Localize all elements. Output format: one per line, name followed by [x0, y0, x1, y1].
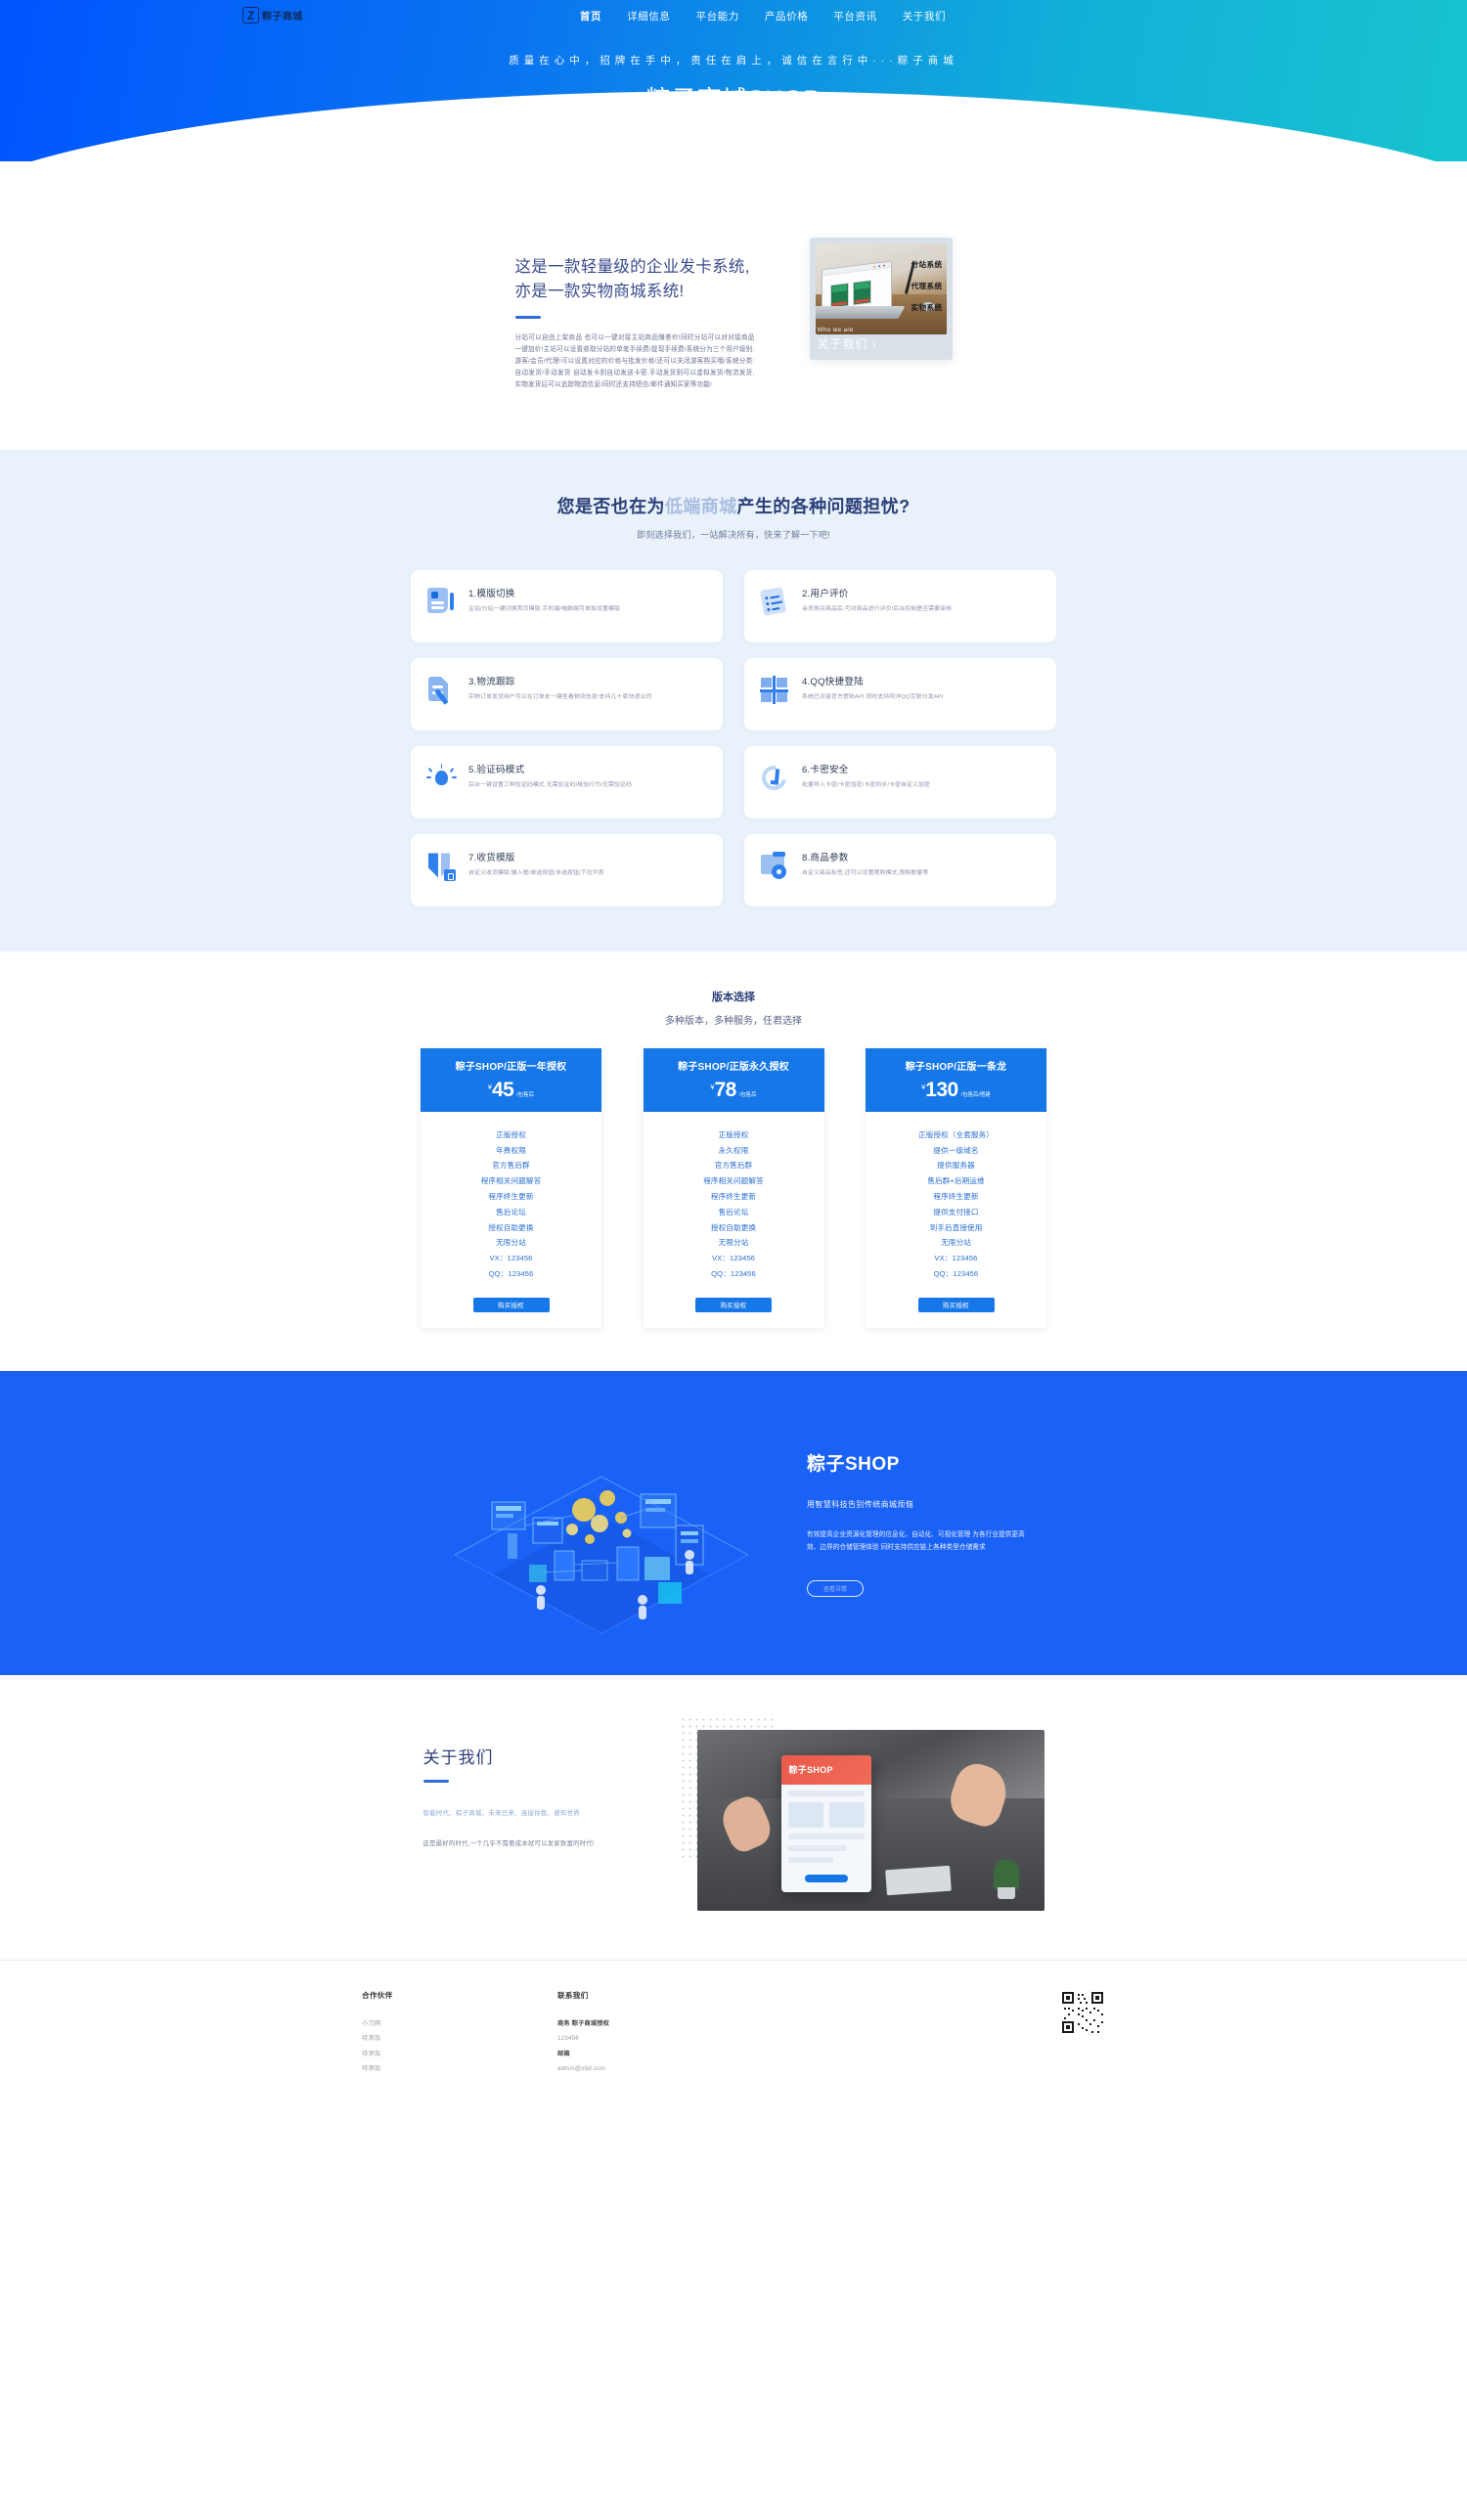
features-heading-highlight: 低端商城: [665, 497, 737, 516]
about-image-block: 粽子SHOP: [697, 1730, 1045, 1921]
cta-button[interactable]: 查看详情: [807, 1580, 864, 1597]
price-period: /包售后/搭建: [961, 1090, 991, 1098]
photo-label-agent: 代理系统: [911, 281, 943, 291]
features-subheading: 即刻选择我们，一站解决所有，快来了解一下吧!: [0, 528, 1467, 541]
feature-card[interactable]: 1.模版切换 主站/分站一键切换首页模版,手机端/电脑端可单独设置模版: [411, 570, 723, 642]
pricing-card-header: 粽子SHOP/正版永久授权 ¥ 78 /包售后: [644, 1048, 824, 1111]
plan-feature: 提供服务器: [873, 1158, 1039, 1173]
photo-labels: 分站系统 代理系统 实物系统: [911, 259, 943, 313]
plan-feature: 正版授权: [651, 1127, 817, 1143]
features-grid: 1.模版切换 主站/分站一键切换首页模版,手机端/电脑端可单独设置模版 2.用户…: [411, 570, 1056, 906]
pricing-card-lifetime: 粽子SHOP/正版永久授权 ¥ 78 /包售后 正版授权 永久权限 官方售后群 …: [644, 1048, 824, 1327]
feature-title: 4.QQ快捷登陆: [802, 674, 944, 687]
plan-feature-list: 正版授权 年费权限 官方售后群 程序相关问题解答 程序终生更新 售后论坛 授权自…: [421, 1112, 601, 1292]
qq-login-icon: [760, 676, 789, 705]
about-photo: 粽子SHOP: [697, 1730, 1045, 1911]
pricing-section: 版本选择 多种版本，多种服务，任君选择 粽子SHOP/正版一年授权 ¥ 45 /…: [0, 951, 1467, 1370]
shield-lock-icon: [426, 852, 456, 881]
feature-card[interactable]: 3.物流跟踪 实物订单发货用户可以在订单处一键查看物流信息!支持几十家快递公司: [411, 658, 723, 730]
browser-bar: [822, 262, 891, 277]
pricing-card-yearly: 粽子SHOP/正版一年授权 ¥ 45 /包售后 正版授权 年费权限 官方售后群 …: [421, 1048, 601, 1327]
cta-heading: 粽子SHOP: [807, 1449, 1032, 1476]
product-thumb: [830, 283, 849, 308]
isometric-illustration: [435, 1408, 768, 1638]
pricing-title: 版本选择: [0, 989, 1467, 1004]
about-card-overlay: Who we are 关于我们 ›: [818, 327, 877, 352]
feature-desc: 后台一键设置三种验证码模式 无需验证码/极验行为/无需验证码: [468, 780, 632, 790]
features-heading-pre: 您是否也在为: [556, 497, 664, 516]
footer-partner-link[interactable]: 待添加: [362, 2047, 479, 2062]
tablet-card: [829, 1802, 865, 1828]
site-logo[interactable]: Z 粽子商城: [243, 7, 303, 23]
plan-feature: 售后论坛: [428, 1205, 594, 1220]
tablet-row: [788, 1857, 833, 1863]
about-card-cn[interactable]: 关于我们 ›: [818, 335, 877, 352]
logo-z-icon: Z: [243, 7, 259, 23]
plan-feature: 正版授权: [428, 1127, 594, 1143]
plan-feature: 年费权限: [428, 1143, 594, 1159]
feature-title: 8.商品参数: [802, 850, 928, 863]
pricing-card-header: 粽子SHOP/正版一年授权 ¥ 45 /包售后: [421, 1048, 601, 1111]
plan-feature: 程序相关问题解答: [651, 1173, 817, 1189]
feature-title: 3.物流跟踪: [468, 674, 651, 687]
photo-label-substation: 分站系统: [911, 259, 943, 270]
price-amount: 78: [714, 1081, 735, 1100]
price-row: ¥ 130 /包售后/搭建: [875, 1081, 1037, 1100]
logistics-edit-icon: [426, 676, 456, 705]
features-section: 您是否也在为低端商城产生的各种问题担忧? 即刻选择我们，一站解决所有，快来了解一…: [0, 450, 1467, 951]
logo-text: 粽子商城: [262, 8, 303, 22]
plan-feature: VX：123456: [428, 1251, 594, 1266]
plan-feature: 售后群+后期运维: [873, 1173, 1039, 1189]
hero-banner: Z 粽子商城 首页 详细信息 平台能力 产品价格 平台资讯 关于我们 质量在心中…: [0, 0, 1467, 161]
buy-button[interactable]: 购买授权: [918, 1298, 995, 1312]
landing-page: Z 粽子商城 首页 详细信息 平台能力 产品价格 平台资讯 关于我们 质量在心中…: [0, 0, 1467, 2114]
hero-title: 粽子商城SHOP: [0, 80, 1467, 115]
tech-city-illustration: [435, 1408, 768, 1638]
product-thumb: [853, 280, 871, 305]
plan-name: 粽子SHOP/正版永久授权: [653, 1061, 815, 1076]
plan-feature: QQ：123456: [651, 1266, 817, 1282]
feature-card[interactable]: 2.用户评价 会员购买商品后,可对商品进行评价!后台控制是否需要审核: [744, 570, 1056, 642]
browser-dot: [883, 264, 885, 267]
feature-card[interactable]: 5.验证码模式 后台一键设置三种验证码模式 无需验证码/极验行为/无需验证码: [411, 746, 723, 818]
price-amount: 45: [492, 1081, 513, 1100]
plan-feature: 正版授权（全套服务）: [873, 1127, 1039, 1143]
plan-feature: QQ：123456: [428, 1266, 594, 1282]
intro-paragraph: 分站可以自由上架商品 也可以一键对接主站商品赚差价!同时分站可以对对接商品一键加…: [515, 332, 755, 392]
plant-pot: [998, 1887, 1015, 1899]
about-card-en: Who we are: [818, 327, 877, 333]
plan-feature: 提供支付接口: [873, 1205, 1039, 1220]
feature-title: 5.验证码模式: [468, 762, 632, 775]
qr-code-icon: [1060, 1990, 1105, 2035]
captcha-bulb-icon: [426, 764, 456, 793]
about-divider: [423, 1780, 449, 1783]
price-amount: 130: [925, 1081, 958, 1100]
feature-title: 2.用户评价: [802, 586, 952, 599]
price-row: ¥ 45 /包售后: [430, 1081, 592, 1100]
footer-partners-title: 合作伙伴: [362, 1990, 479, 2001]
nav-item-pricing[interactable]: 产品价格: [765, 9, 808, 23]
price-period: /包售后: [739, 1090, 757, 1098]
tablet-mockup: 粽子SHOP: [781, 1755, 871, 1892]
feature-desc: 批量导入卡密/卡密加密/卡密同步/卡密自定义加密: [802, 780, 930, 790]
plan-feature-list: 正版授权 永久权限 官方售后群 程序相关问题解答 程序终生更新 售后论坛 授权自…: [644, 1112, 824, 1292]
laptop-photo: 分站系统 代理系统 实物系统: [816, 243, 947, 334]
footer-email-value: admin@x6d.com: [557, 2061, 675, 2077]
plan-feature: 无限分站: [873, 1235, 1039, 1251]
plan-feature-list: 正版授权（全套服务） 提供一级域名 提供服务器 售后群+后期运维 程序终生更新 …: [866, 1112, 1046, 1292]
feature-desc: 主站/分站一键切换首页模版,手机端/电脑端可单独设置模版: [468, 604, 620, 614]
tablet-header: 粽子SHOP: [781, 1755, 871, 1785]
tablet-card: [788, 1802, 823, 1828]
price-period: /包售后: [516, 1090, 534, 1098]
nav-item-home[interactable]: 首页: [580, 9, 601, 23]
plan-feature: 无限分站: [428, 1235, 594, 1251]
feature-card[interactable]: 4.QQ快捷登陆 系统已对接官方登陆API 同时支持阿洋QQ互联分发API: [744, 658, 1056, 730]
about-section: 关于我们 智能时代、粽子商城、未来已来、连接你我、感知世界 这是最好的时代,一个…: [0, 1675, 1467, 1960]
feature-card[interactable]: 7.收货模版 自定义收货模版,输入框/单选按钮/多选按钮/下拉列表: [411, 834, 723, 906]
features-heading: 您是否也在为低端商城产生的各种问题担忧?: [0, 493, 1467, 518]
feature-title: 6.卡密安全: [802, 762, 930, 775]
footer-contact-value: 123456: [557, 2031, 675, 2047]
plan-feature: QQ：123456: [873, 1266, 1039, 1282]
about-tags: 智能时代、粽子商城、未来已来、连接你我、感知世界: [423, 1808, 648, 1817]
feature-desc: 自定义商品标签,还可以设置限购模式,限购数量等: [802, 868, 928, 878]
plan-feature: 程序终生更新: [651, 1189, 817, 1205]
card-security-check-icon: [760, 764, 789, 793]
cta-paragraph: 有效提高企业资源化管理的信息化、自动化、可视化管理 为各行业提供更高效、边界的仓…: [807, 1529, 1032, 1555]
nav-item-capability[interactable]: 平台能力: [695, 9, 738, 23]
tablet-logo-text: 粽子SHOP: [789, 1763, 833, 1776]
plan-feature: VX：123456: [651, 1251, 817, 1266]
plan-feature: 售后论坛: [651, 1205, 817, 1220]
feature-desc: 系统已对接官方登陆API 同时支持阿洋QQ互联分发API: [802, 692, 944, 702]
about-us-card[interactable]: 分站系统 代理系统 实物系统 Who we are 关于我们 ›: [810, 238, 953, 360]
pricing-grid: 粽子SHOP/正版一年授权 ¥ 45 /包售后 正版授权 年费权限 官方售后群 …: [421, 1048, 1046, 1327]
feature-desc: 自定义收货模版,输入框/单选按钮/多选按钮/下拉列表: [468, 868, 604, 878]
folder-gear-icon: [760, 852, 789, 881]
footer-contact-label: 商务 粽子商城授权: [557, 2016, 675, 2032]
review-note-icon: [760, 588, 789, 617]
laptop-base: [816, 306, 905, 319]
cta-subheading: 用智慧科技告别传统商城烦恼: [807, 1499, 1032, 1510]
pricing-subtitle: 多种版本，多种服务，任君选择: [0, 1012, 1467, 1027]
intro-text-block: 这是一款轻量级的企业发卡系统,亦是一款实物商城系统! 分站可以自由上架商品 也可…: [515, 238, 755, 391]
photo-label-physical: 实物系统: [911, 302, 943, 313]
intro-divider: [515, 316, 541, 319]
feature-card[interactable]: 6.卡密安全 批量导入卡密/卡密加密/卡密同步/卡密自定义加密: [744, 746, 1056, 818]
buy-button[interactable]: 购买授权: [473, 1298, 550, 1312]
footer-partner-link[interactable]: 小刀网: [362, 2016, 479, 2032]
plan-feature: 程序终生更新: [873, 1189, 1039, 1205]
features-heading-post: 产生的各种问题担忧?: [737, 497, 911, 516]
tablet-row: [788, 1791, 865, 1796]
plan-name: 粽子SHOP/正版一条龙: [875, 1061, 1037, 1076]
plan-feature: 授权自助更换: [651, 1220, 817, 1236]
price-row: ¥ 78 /包售后: [653, 1081, 815, 1100]
about-text-block: 关于我们 智能时代、粽子商城、未来已来、连接你我、感知世界 这是最好的时代,一个…: [423, 1730, 648, 1921]
plant-decoration: [994, 1860, 1019, 1889]
about-paragraph: 这是最好的时代,一个几乎不需要成本就可以发家致富的时代!: [423, 1838, 648, 1847]
tablet-row: [788, 1845, 847, 1851]
footer-columns: 合作伙伴 小刀网 待添加 待添加 待添加 联系我们 商务 粽子商城授权 1234…: [362, 1990, 1105, 2077]
cta-banner: 粽子SHOP 用智慧科技告别传统商城烦恼 有效提高企业资源化管理的信息化、自动化…: [0, 1371, 1467, 1675]
intro-heading: 这是一款轻量级的企业发卡系统,亦是一款实物商城系统!: [515, 255, 755, 304]
pricing-card-header: 粽子SHOP/正版一条龙 ¥ 130 /包售后/搭建: [866, 1048, 1046, 1111]
plan-feature: 永久权限: [651, 1143, 817, 1159]
document-switch-icon: [426, 588, 456, 617]
footer-email-label: 邮箱: [557, 2047, 675, 2062]
plan-feature: VX：123456: [873, 1251, 1039, 1266]
browser-dot: [873, 265, 875, 268]
tablet-row: [788, 1834, 865, 1839]
tablet-button: [805, 1875, 848, 1882]
pricing-card-fullservice: 粽子SHOP/正版一条龙 ¥ 130 /包售后/搭建 正版授权（全套服务） 提供…: [866, 1048, 1046, 1327]
plan-feature: 程序终生更新: [428, 1189, 594, 1205]
plan-feature: 官方售后群: [651, 1158, 817, 1173]
cta-text-block: 粽子SHOP 用智慧科技告别传统商城烦恼 有效提高企业资源化管理的信息化、自动化…: [807, 1449, 1032, 1597]
plan-feature: 程序相关问题解答: [428, 1173, 594, 1189]
footer-partners-column: 合作伙伴 小刀网 待添加 待添加 待添加: [362, 1990, 479, 2077]
site-footer: 合作伙伴 小刀网 待添加 待添加 待添加 联系我们 商务 粽子商城授权 1234…: [0, 1960, 1467, 2114]
plan-feature: 无限分站: [651, 1235, 817, 1251]
nav-item-news[interactable]: 平台资讯: [833, 9, 876, 23]
footer-partner-link[interactable]: 待添加: [362, 2061, 479, 2077]
keyboard: [885, 1865, 952, 1895]
plan-feature: 官方售后群: [428, 1158, 594, 1173]
plan-feature: 提供一级域名: [873, 1143, 1039, 1159]
nav-links: 首页 详细信息 平台能力 产品价格 平台资讯 关于我们: [580, 9, 946, 23]
about-heading: 关于我们: [423, 1744, 648, 1768]
footer-contact-column: 联系我们 商务 粽子商城授权 123456 邮箱 admin@x6d.com: [557, 1990, 675, 2077]
nav-item-details[interactable]: 详细信息: [627, 9, 670, 23]
feature-title: 1.模版切换: [468, 586, 620, 599]
qr-code: [1060, 1990, 1105, 2035]
plan-feature: 授权自助更换: [428, 1220, 594, 1236]
nav-item-about[interactable]: 关于我们: [903, 9, 946, 23]
plan-feature: 到手后直接使用: [873, 1220, 1039, 1236]
feature-card[interactable]: 8.商品参数 自定义商品标签,还可以设置限购模式,限购数量等: [744, 834, 1056, 906]
footer-partner-link[interactable]: 待添加: [362, 2031, 479, 2047]
feature-desc: 会员购买商品后,可对商品进行评价!后台控制是否需要审核: [802, 604, 952, 614]
top-navigation: Z 粽子商城 首页 详细信息 平台能力 产品价格 平台资讯 关于我们: [0, 0, 1467, 31]
feature-desc: 实物订单发货用户可以在订单处一键查看物流信息!支持几十家快递公司: [468, 692, 651, 702]
plan-name: 粽子SHOP/正版一年授权: [430, 1061, 592, 1076]
hero-slogan: 质量在心中，招牌在手中，责任在肩上，诚信在言行中···粽子商城: [0, 53, 1467, 67]
browser-dot: [878, 265, 880, 268]
buy-button[interactable]: 购买授权: [695, 1298, 772, 1312]
footer-contact-title: 联系我们: [557, 1990, 675, 2001]
feature-title: 7.收货模版: [468, 850, 604, 863]
